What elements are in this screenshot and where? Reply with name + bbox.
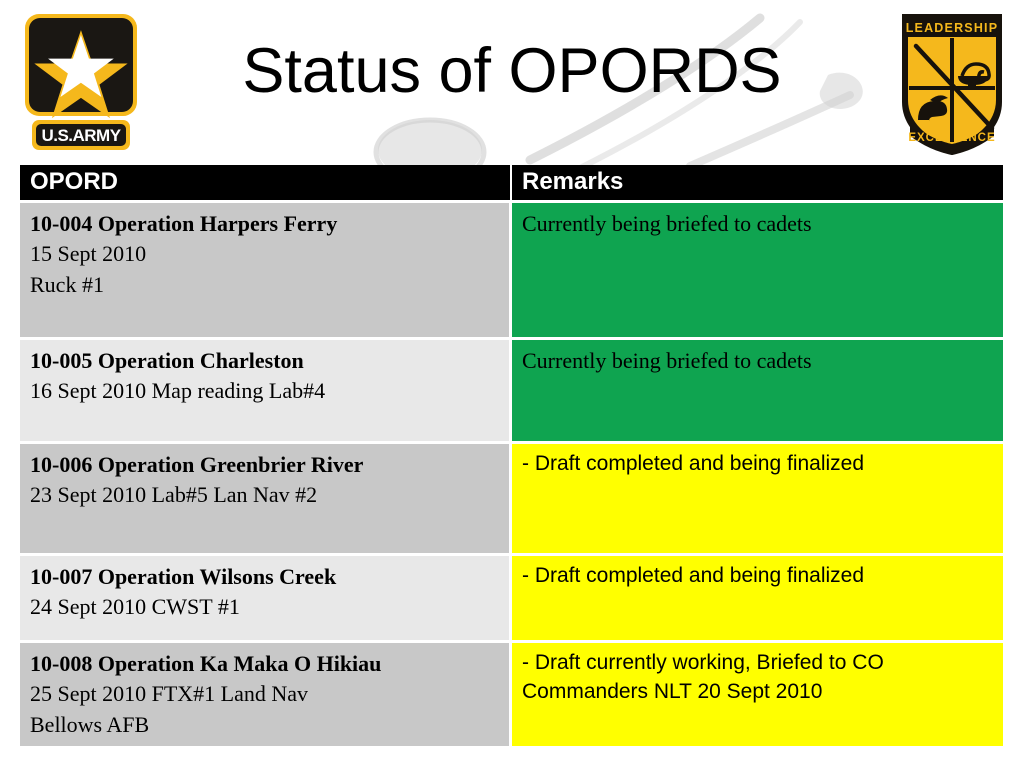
column-header-remarks: Remarks xyxy=(512,165,1003,200)
opord-detail-line: 24 Sept 2010 CWST #1 xyxy=(30,592,501,622)
opord-title: 10-008 Operation Ka Maka O Hikiau xyxy=(30,649,501,679)
opord-cell: 10-007 Operation Wilsons Creek 24 Sept 2… xyxy=(20,553,512,640)
remarks-cell: Currently being briefed to cadets xyxy=(512,337,1003,441)
opord-cell: 10-004 Operation Harpers Ferry 15 Sept 2… xyxy=(20,200,512,337)
slide-header: Status of OPORDS xyxy=(0,0,1024,165)
remarks-cell: - Draft completed and being finalized xyxy=(512,441,1003,553)
table-row: 10-005 Operation Charleston 16 Sept 2010… xyxy=(20,337,1003,441)
remarks-cell: - Draft completed and being finalized xyxy=(512,553,1003,640)
table-row: 10-008 Operation Ka Maka O Hikiau 25 Sep… xyxy=(20,640,1003,746)
table-row: 10-006 Operation Greenbrier River 23 Sep… xyxy=(20,441,1003,553)
remarks-cell: - Draft currently working, Briefed to CO… xyxy=(512,640,1003,746)
opord-detail-line: 15 Sept 2010 xyxy=(30,239,501,269)
remark-line: Currently being briefed to cadets xyxy=(522,348,812,373)
opord-title: 10-004 Operation Harpers Ferry xyxy=(30,209,501,239)
table-header-row: OPORD Remarks xyxy=(20,165,1003,200)
opord-status-table: OPORD Remarks 10-004 Operation Harpers F… xyxy=(20,165,1003,746)
page-title: Status of OPORDS xyxy=(0,0,1024,165)
remark-line: - Draft completed and being finalized xyxy=(522,564,864,587)
opord-title: 10-007 Operation Wilsons Creek xyxy=(30,562,501,592)
remark-line: Currently being briefed to cadets xyxy=(522,211,812,236)
opord-title: 10-006 Operation Greenbrier River xyxy=(30,450,501,480)
table-row: 10-004 Operation Harpers Ferry 15 Sept 2… xyxy=(20,200,1003,337)
army-wordmark: U.S.ARMY xyxy=(41,126,121,145)
remarks-cell: Currently being briefed to cadets xyxy=(512,200,1003,337)
opord-detail-line: Bellows AFB xyxy=(30,710,501,740)
remark-line: Commanders NLT 20 Sept 2010 xyxy=(522,680,822,703)
opord-title: 10-005 Operation Charleston xyxy=(30,346,501,376)
opord-cell: 10-006 Operation Greenbrier River 23 Sep… xyxy=(20,441,512,553)
table-row: 10-007 Operation Wilsons Creek 24 Sept 2… xyxy=(20,553,1003,640)
rotc-top-label: LEADERSHIP xyxy=(906,21,999,35)
opord-detail-line: 25 Sept 2010 FTX#1 Land Nav xyxy=(30,679,501,709)
opord-detail-line: 16 Sept 2010 Map reading Lab#4 xyxy=(30,376,501,406)
column-header-opord: OPORD xyxy=(20,165,512,200)
remark-line: - Draft currently working, Briefed to CO xyxy=(522,651,884,674)
army-rotc-shield: LEADERSHIP EXCELLENCE xyxy=(896,10,1008,158)
opord-detail-line: Ruck #1 xyxy=(30,270,501,300)
remark-line: - Draft completed and being finalized xyxy=(522,452,864,475)
opord-cell: 10-005 Operation Charleston 16 Sept 2010… xyxy=(20,337,512,441)
opord-cell: 10-008 Operation Ka Maka O Hikiau 25 Sep… xyxy=(20,640,512,746)
table-body: 10-004 Operation Harpers Ferry 15 Sept 2… xyxy=(20,200,1003,746)
us-army-star-logo: U.S.ARMY xyxy=(22,12,140,154)
opord-detail-line: 23 Sept 2010 Lab#5 Lan Nav #2 xyxy=(30,480,501,510)
